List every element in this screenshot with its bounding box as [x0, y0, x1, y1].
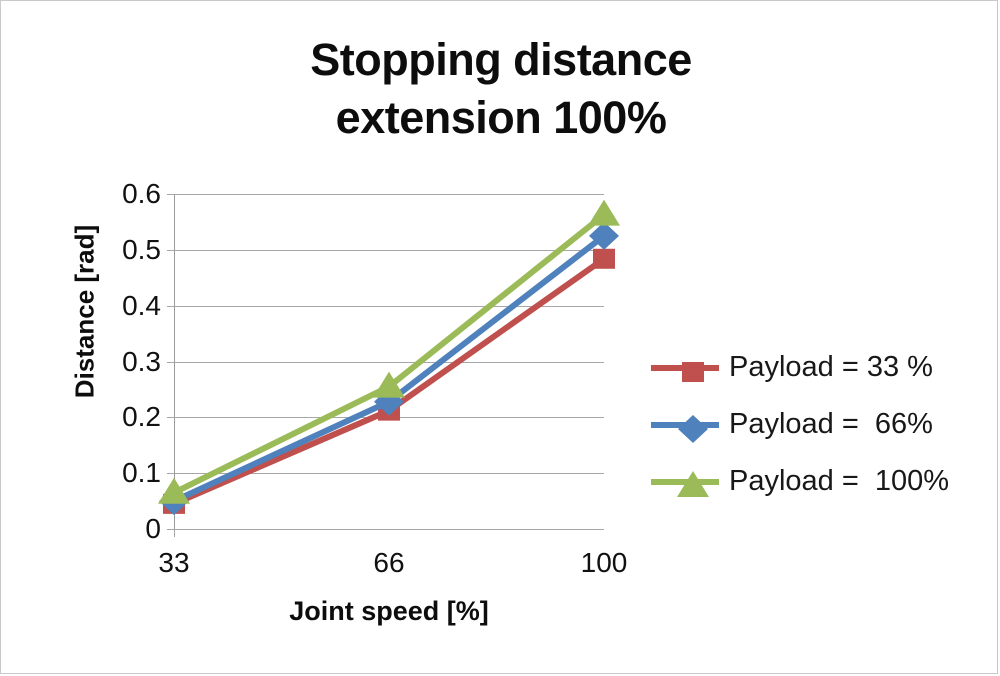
y-axis-tick-mark [167, 306, 174, 307]
legend-swatch [651, 413, 719, 437]
y-axis-tick-label: 0.6 [89, 178, 161, 210]
y-axis-tick-label: 0.5 [89, 234, 161, 266]
legend-item[interactable]: Payload = 33 % [651, 339, 991, 396]
x-axis-tick-label: 33 [119, 547, 229, 579]
chart-title-line-1: Stopping distance [131, 31, 871, 89]
legend-swatch [651, 470, 719, 494]
x-axis-start-tick [174, 530, 175, 537]
legend-item[interactable]: Payload = 66% [651, 396, 991, 453]
y-axis-tick-label: 0.1 [89, 457, 161, 489]
series-line [174, 215, 604, 493]
y-axis-tick-mark [167, 362, 174, 363]
legend-swatch [651, 356, 719, 380]
y-axis-tick-mark [167, 250, 174, 251]
y-axis-tick-label: 0 [89, 513, 161, 545]
data-point-marker [158, 478, 190, 504]
chart-title-line-2: extension 100% [131, 89, 871, 147]
x-axis-label: Joint speed [%] [174, 596, 604, 627]
x-axis-tick-label: 66 [334, 547, 444, 579]
x-axis-tick-label: 100 [549, 547, 659, 579]
plot-area [174, 194, 604, 529]
y-axis-tick-mark [167, 529, 174, 530]
legend-label: Payload = 33 % [729, 351, 933, 384]
gridline [174, 529, 604, 530]
y-axis-tick-mark [167, 194, 174, 195]
triangle-marker-icon [675, 470, 711, 502]
y-axis-tick-label: 0.4 [89, 290, 161, 322]
series-3 [158, 200, 620, 504]
diamond-marker-icon [675, 413, 711, 445]
square-marker-icon [675, 356, 711, 388]
y-axis-tick-mark [167, 417, 174, 418]
y-axis-tick-mark [167, 473, 174, 474]
chart-legend: Payload = 33 %Payload = 66%Payload = 100… [651, 339, 991, 510]
series-layer [174, 194, 604, 529]
y-axis-tick-label: 0.2 [89, 401, 161, 433]
data-point-marker [593, 249, 615, 269]
series-2 [159, 222, 619, 515]
y-axis-tick-label: 0.3 [89, 346, 161, 378]
legend-item[interactable]: Payload = 100% [651, 453, 991, 510]
legend-label: Payload = 66% [729, 408, 933, 441]
data-point-marker [588, 200, 620, 226]
chart-title: Stopping distance extension 100% [131, 31, 871, 146]
chart-canvas: Stopping distance extension 100% Distanc… [0, 0, 998, 674]
legend-label: Payload = 100% [729, 465, 949, 498]
